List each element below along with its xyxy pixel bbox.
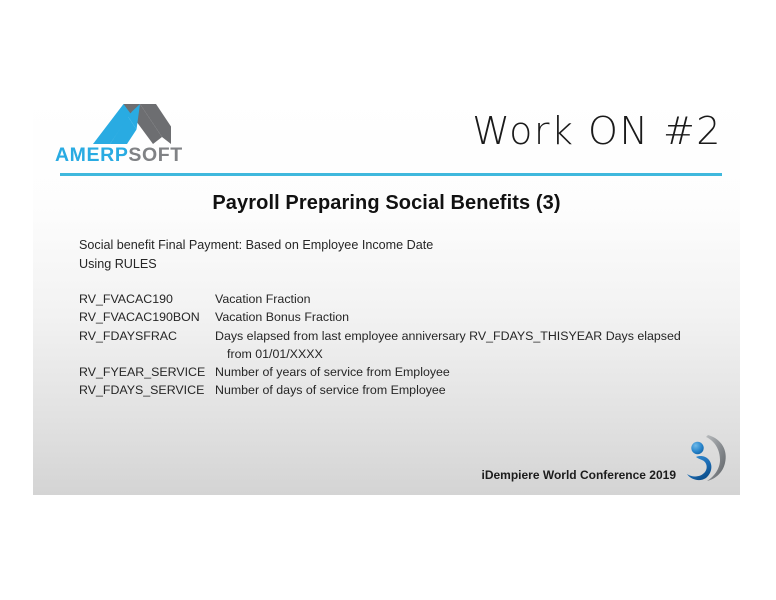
rule-description: Number of years of service from Employee xyxy=(215,363,729,381)
slide-title: Payroll Preparing Social Benefits (3) xyxy=(33,192,740,215)
presentation-slide: AMERPSOFT Work ON #2 Payroll Preparing S… xyxy=(33,95,740,495)
brand-name-part1: AMERP xyxy=(55,144,128,166)
rule-row: RV_FDAYSFRAC Days elapsed from last empl… xyxy=(79,327,729,364)
rule-term: RV_FDAYS_SERVICE xyxy=(79,381,215,399)
amerpsoft-m-logo-icon xyxy=(93,104,171,144)
rule-term: RV_FVACAC190 xyxy=(79,290,215,308)
rule-row: RV_FVACAC190 Vacation Fraction xyxy=(79,290,729,308)
brand-name-part2: SOFT xyxy=(128,144,182,166)
rule-term: RV_FYEAR_SERVICE xyxy=(79,363,215,381)
rule-row: RV_FYEAR_SERVICE Number of years of serv… xyxy=(79,363,729,381)
rule-description-main: Days elapsed from last employee annivers… xyxy=(215,329,681,343)
rule-description: Vacation Bonus Fraction xyxy=(215,308,729,326)
header-divider xyxy=(60,173,722,176)
intro-line: Using RULES xyxy=(79,255,433,274)
rule-term: RV_FDAYSFRAC xyxy=(79,327,215,345)
amerpsoft-wordmark: AMERPSOFT xyxy=(55,146,245,166)
rules-definition-list: RV_FVACAC190 Vacation Fraction RV_FVACAC… xyxy=(79,290,729,400)
rule-row: RV_FDAYS_SERVICE Number of days of servi… xyxy=(79,381,729,399)
amerpsoft-logo: AMERPSOFT xyxy=(55,104,245,169)
intro-text-block: Social benefit Final Payment: Based on E… xyxy=(79,236,433,273)
rule-description: Vacation Fraction xyxy=(215,290,729,308)
rule-description-continuation: from 01/01/XXXX xyxy=(215,345,729,363)
rule-term: RV_FVACAC190BON xyxy=(79,308,215,326)
rule-description: Days elapsed from last employee annivers… xyxy=(215,327,729,364)
intro-line: Social benefit Final Payment: Based on E… xyxy=(79,236,433,255)
rule-description: Number of days of service from Employee xyxy=(215,381,729,399)
idempiere-logo-icon xyxy=(682,433,728,485)
footer-conference-label: iDempiere World Conference 2019 xyxy=(481,468,676,482)
deck-title: Work ON #2 xyxy=(472,109,722,153)
rule-row: RV_FVACAC190BON Vacation Bonus Fraction xyxy=(79,308,729,326)
